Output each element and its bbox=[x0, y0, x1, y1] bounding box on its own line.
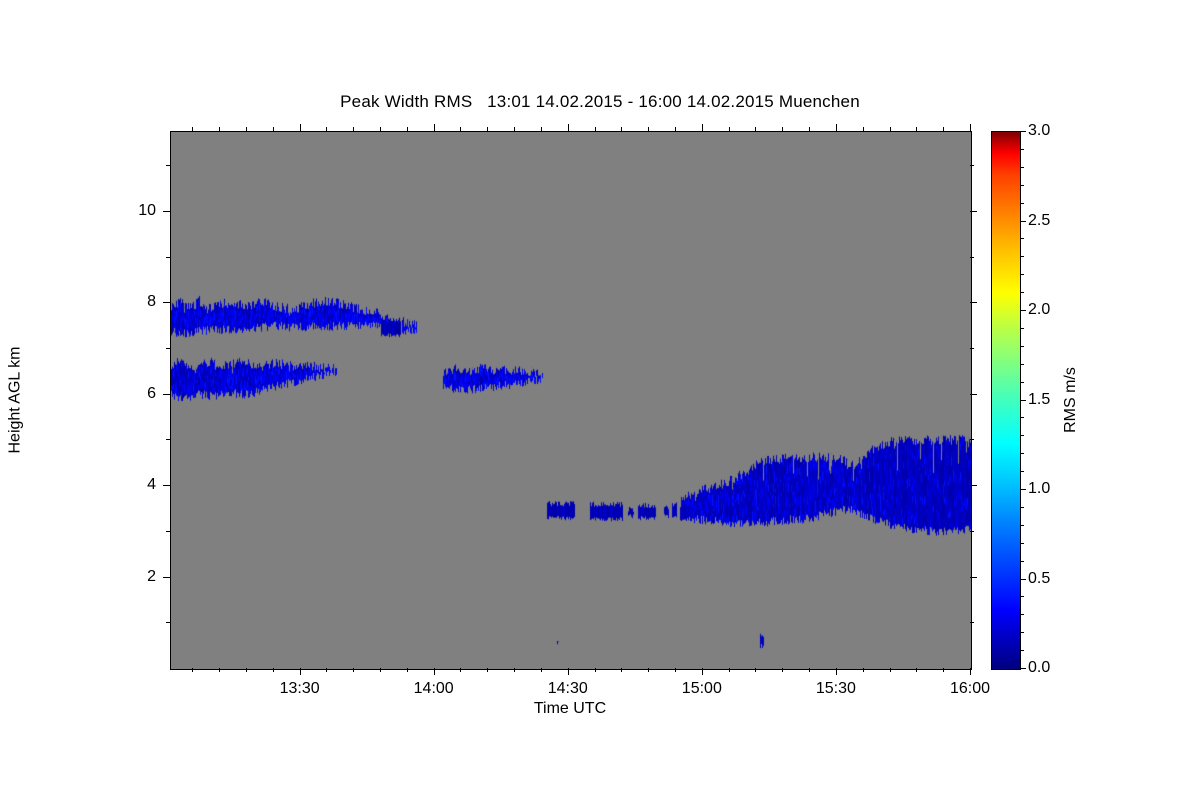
x-minor-tick-top bbox=[380, 127, 381, 131]
colorbar-tick-label: 0.5 bbox=[1028, 570, 1050, 588]
colorbar-minor-tick bbox=[1020, 650, 1024, 651]
y-major-tick bbox=[163, 302, 170, 303]
x-minor-tick-top bbox=[541, 127, 542, 131]
colorbar-minor-tick bbox=[1020, 185, 1024, 186]
x-tick-label: 14:30 bbox=[548, 680, 588, 698]
y-minor-tick-right bbox=[970, 348, 974, 349]
colorbar-minor-tick bbox=[1020, 543, 1024, 544]
colorbar-minor-tick bbox=[1020, 453, 1024, 454]
y-major-tick bbox=[163, 211, 170, 212]
x-minor-tick-top bbox=[192, 127, 193, 131]
y-minor-tick bbox=[166, 531, 170, 532]
x-major-tick-top bbox=[702, 124, 703, 131]
plot-page: Peak Width RMS 13:01 14.02.2015 - 16:00 … bbox=[0, 0, 1200, 800]
colorbar-tick-label: 1.0 bbox=[1028, 480, 1050, 498]
colorbar bbox=[991, 131, 1021, 670]
x-major-tick bbox=[970, 668, 971, 675]
colorbar-minor-tick bbox=[1020, 561, 1024, 562]
colorbar-minor-tick bbox=[1020, 417, 1024, 418]
x-minor-tick-top bbox=[675, 127, 676, 131]
y-minor-tick-right bbox=[970, 622, 974, 623]
x-minor-tick bbox=[809, 668, 810, 672]
x-minor-tick bbox=[890, 668, 891, 672]
colorbar-minor-tick bbox=[1020, 364, 1024, 365]
colorbar-major-tick bbox=[1020, 668, 1026, 669]
chart-title: Peak Width RMS 13:01 14.02.2015 - 16:00 … bbox=[0, 92, 1200, 112]
plot-area bbox=[170, 131, 972, 670]
colorbar-minor-tick bbox=[1020, 256, 1024, 257]
x-minor-tick bbox=[916, 668, 917, 672]
x-minor-tick-top bbox=[219, 127, 220, 131]
x-minor-tick bbox=[943, 668, 944, 672]
colorbar-tick-label: 3.0 bbox=[1028, 122, 1050, 140]
x-tick-label: 16:00 bbox=[950, 680, 990, 698]
colorbar-minor-tick bbox=[1020, 274, 1024, 275]
x-minor-tick bbox=[380, 668, 381, 672]
colorbar-major-tick bbox=[1020, 221, 1026, 222]
x-minor-tick bbox=[273, 668, 274, 672]
x-major-tick bbox=[434, 668, 435, 675]
x-minor-tick-top bbox=[407, 127, 408, 131]
x-minor-tick bbox=[541, 668, 542, 672]
colorbar-minor-tick bbox=[1020, 382, 1024, 383]
x-major-tick bbox=[702, 668, 703, 675]
x-minor-tick bbox=[460, 668, 461, 672]
x-minor-tick-top bbox=[514, 127, 515, 131]
colorbar-minor-tick bbox=[1020, 632, 1024, 633]
x-minor-tick bbox=[863, 668, 864, 672]
heatmap-canvas bbox=[171, 132, 971, 669]
x-major-tick-top bbox=[970, 124, 971, 131]
x-minor-tick-top bbox=[648, 127, 649, 131]
colorbar-title: RMS m/s bbox=[1058, 131, 1084, 668]
colorbar-major-tick bbox=[1020, 131, 1026, 132]
x-minor-tick-top bbox=[916, 127, 917, 131]
colorbar-minor-tick bbox=[1020, 167, 1024, 168]
colorbar-minor-tick bbox=[1020, 614, 1024, 615]
x-minor-tick bbox=[246, 668, 247, 672]
colorbar-title-text: RMS m/s bbox=[1062, 367, 1080, 433]
colorbar-minor-tick bbox=[1020, 238, 1024, 239]
colorbar-tick-label: 2.5 bbox=[1028, 212, 1050, 230]
y-minor-tick bbox=[166, 622, 170, 623]
x-minor-tick-top bbox=[246, 127, 247, 131]
y-major-tick-right bbox=[970, 302, 977, 303]
x-minor-tick-top bbox=[353, 127, 354, 131]
x-major-tick-top bbox=[434, 124, 435, 131]
colorbar-major-tick bbox=[1020, 579, 1026, 580]
x-axis-title: Time UTC bbox=[170, 700, 970, 718]
x-major-tick-top bbox=[836, 124, 837, 131]
x-minor-tick bbox=[675, 668, 676, 672]
colorbar-minor-tick bbox=[1020, 149, 1024, 150]
x-minor-tick-top bbox=[943, 127, 944, 131]
y-major-tick-right bbox=[970, 211, 977, 212]
colorbar-tick-label: 2.0 bbox=[1028, 301, 1050, 319]
colorbar-tick-label: 0.0 bbox=[1028, 659, 1050, 677]
colorbar-minor-tick bbox=[1020, 435, 1024, 436]
colorbar-major-tick bbox=[1020, 400, 1026, 401]
x-minor-tick bbox=[595, 668, 596, 672]
x-minor-tick-top bbox=[273, 127, 274, 131]
x-minor-tick-top bbox=[890, 127, 891, 131]
x-minor-tick-top bbox=[809, 127, 810, 131]
y-minor-tick-right bbox=[970, 257, 974, 258]
colorbar-minor-tick bbox=[1020, 596, 1024, 597]
y-major-tick-right bbox=[970, 577, 977, 578]
x-minor-tick bbox=[755, 668, 756, 672]
y-major-tick bbox=[163, 485, 170, 486]
x-minor-tick bbox=[514, 668, 515, 672]
x-minor-tick bbox=[219, 668, 220, 672]
x-minor-tick-top bbox=[460, 127, 461, 131]
y-major-tick-right bbox=[970, 485, 977, 486]
colorbar-minor-tick bbox=[1020, 292, 1024, 293]
y-major-tick-right bbox=[970, 394, 977, 395]
x-tick-label: 14:00 bbox=[414, 680, 454, 698]
colorbar-minor-tick bbox=[1020, 328, 1024, 329]
x-tick-label: 13:30 bbox=[280, 680, 320, 698]
colorbar-tick-label: 1.5 bbox=[1028, 391, 1050, 409]
x-major-tick-top bbox=[568, 124, 569, 131]
x-minor-tick-top bbox=[729, 127, 730, 131]
y-minor-tick bbox=[166, 257, 170, 258]
y-axis-title: Height AGL km bbox=[0, 131, 30, 668]
colorbar-major-tick bbox=[1020, 489, 1026, 490]
x-tick-label: 15:00 bbox=[682, 680, 722, 698]
x-minor-tick-top bbox=[621, 127, 622, 131]
x-minor-tick-top bbox=[782, 127, 783, 131]
x-major-tick-top bbox=[300, 124, 301, 131]
x-minor-tick bbox=[729, 668, 730, 672]
colorbar-minor-tick bbox=[1020, 507, 1024, 508]
x-tick-label: 15:30 bbox=[816, 680, 856, 698]
colorbar-minor-tick bbox=[1020, 203, 1024, 204]
x-minor-tick-top bbox=[595, 127, 596, 131]
y-minor-tick-right bbox=[970, 439, 974, 440]
x-minor-tick bbox=[407, 668, 408, 672]
colorbar-minor-tick bbox=[1020, 471, 1024, 472]
y-minor-tick-right bbox=[970, 165, 974, 166]
y-major-tick bbox=[163, 577, 170, 578]
x-minor-tick-top bbox=[326, 127, 327, 131]
x-minor-tick-top bbox=[487, 127, 488, 131]
x-major-tick bbox=[836, 668, 837, 675]
x-minor-tick bbox=[326, 668, 327, 672]
colorbar-minor-tick bbox=[1020, 346, 1024, 347]
y-minor-tick bbox=[166, 348, 170, 349]
y-minor-tick bbox=[166, 439, 170, 440]
x-minor-tick bbox=[621, 668, 622, 672]
x-major-tick bbox=[568, 668, 569, 675]
x-minor-tick bbox=[192, 668, 193, 672]
y-major-tick bbox=[163, 394, 170, 395]
x-major-tick bbox=[300, 668, 301, 675]
colorbar-minor-tick bbox=[1020, 525, 1024, 526]
x-minor-tick bbox=[353, 668, 354, 672]
x-minor-tick-top bbox=[863, 127, 864, 131]
x-minor-tick-top bbox=[755, 127, 756, 131]
colorbar-major-tick bbox=[1020, 310, 1026, 311]
x-minor-tick bbox=[487, 668, 488, 672]
x-minor-tick bbox=[648, 668, 649, 672]
y-minor-tick-right bbox=[970, 531, 974, 532]
y-axis-title-text: Height AGL km bbox=[6, 346, 24, 453]
x-minor-tick bbox=[782, 668, 783, 672]
y-minor-tick bbox=[166, 165, 170, 166]
